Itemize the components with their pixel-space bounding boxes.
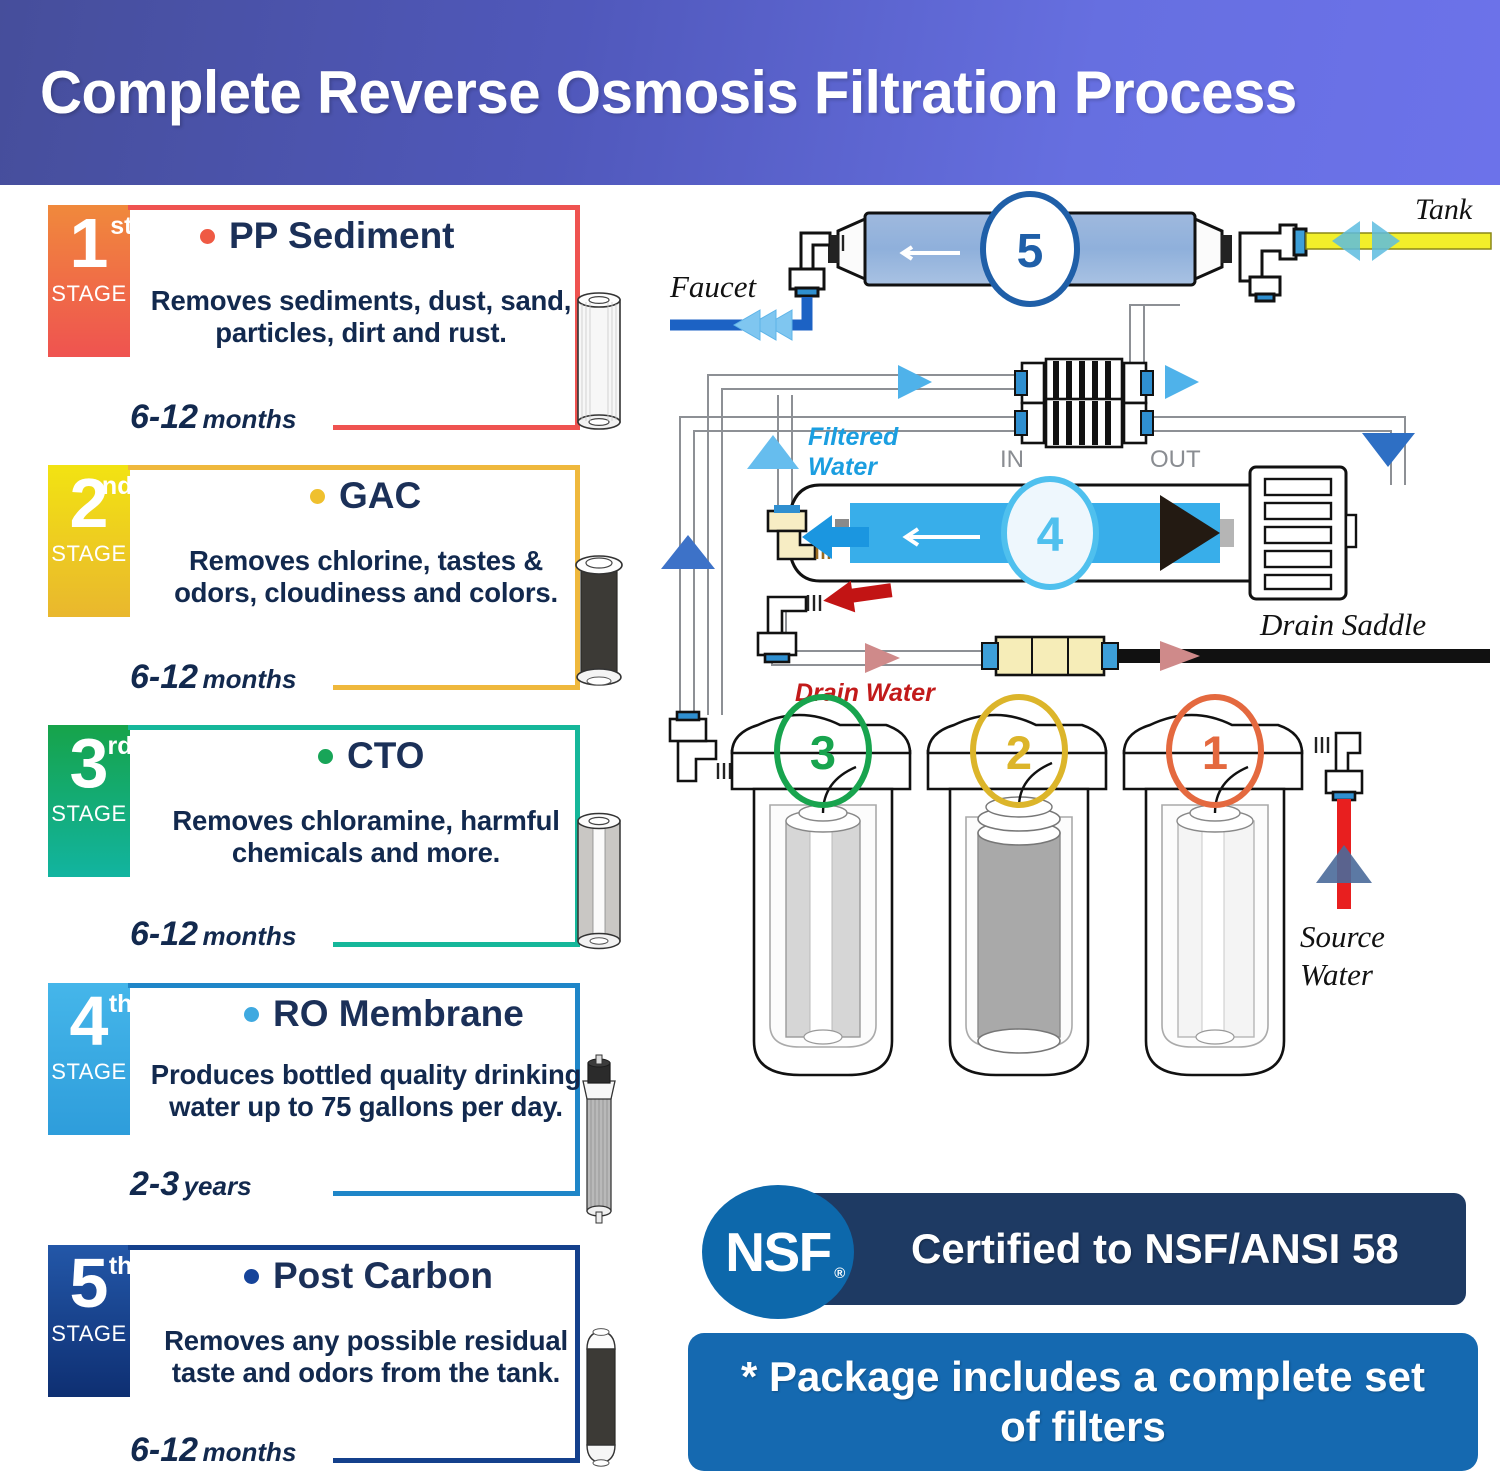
tank-label: Tank <box>1415 193 1473 226</box>
stage-desc-4: Produces bottled quality drinking water … <box>140 1059 592 1124</box>
package-note-text: * Package includes a complete set of fil… <box>728 1352 1438 1453</box>
stage-card-5[interactable]: 5th STAGE Post Carbon Removes any possib… <box>48 1233 648 1473</box>
stage-badge-4: 4th STAGE <box>48 983 130 1135</box>
stage-badge-3: 3rd STAGE <box>48 725 130 877</box>
nsf-logo-text: NSF® <box>725 1220 831 1284</box>
ro-system-schematic: 5 Tank <box>660 185 1500 1085</box>
stage-word-2: STAGE <box>51 541 126 567</box>
stage-title-5: Post Carbon <box>244 1255 493 1297</box>
bracket-bottom-2 <box>333 685 580 690</box>
stage-bullet-4 <box>244 1007 259 1022</box>
drain-water-label: Drain Water <box>795 679 936 707</box>
nsf-certification-text: Certified to NSF/ANSI 58 <box>911 1225 1399 1273</box>
stage-desc-2: Removes chlorine, tastes & odors, cloudi… <box>146 545 586 610</box>
bracket-bottom-3 <box>333 942 580 947</box>
valve-out-label: OUT <box>1150 446 1201 473</box>
stage-desc-1: Removes sediments, dust, sand, particles… <box>146 285 576 350</box>
valve-in-label: IN <box>1000 446 1024 473</box>
stage-bullet-5 <box>244 1269 259 1284</box>
svg-text:Water: Water <box>808 453 878 481</box>
stage-number-3: 3rd <box>70 731 109 795</box>
stage-title-1: PP Sediment <box>200 215 455 257</box>
stage-duration-1: 6-12 months <box>130 398 296 437</box>
bracket-top-2 <box>128 465 580 470</box>
stage-word-4: STAGE <box>51 1059 126 1085</box>
filtered-water-label: Filtered <box>808 423 899 451</box>
svg-text:Water: Water <box>1300 957 1374 992</box>
stage-badge-5: 5th STAGE <box>48 1245 130 1397</box>
stage-card-1[interactable]: 1st STAGE PP Sediment Removes sediments,… <box>48 193 648 453</box>
registered-mark-icon: ® <box>834 1265 844 1282</box>
stage-card-3[interactable]: 3rd STAGE CTO Removes chloramine, harmfu… <box>48 713 648 971</box>
svg-text:2: 2 <box>1006 726 1032 779</box>
stages-column: 1st STAGE PP Sediment Removes sediments,… <box>0 185 660 1471</box>
cartridge-art-4 <box>570 1043 628 1228</box>
svg-text:1: 1 <box>1202 726 1228 779</box>
stage-ordinal-3: rd <box>107 735 132 758</box>
stage-badge-1: 1st STAGE <box>48 205 130 357</box>
bracket-top-1 <box>128 205 580 210</box>
stage-ordinal-2: nd <box>102 475 133 498</box>
nsf-bar: Certified to NSF/ANSI 58 <box>766 1193 1466 1305</box>
stage-duration-5: 6-12 months <box>130 1431 296 1470</box>
stage-number-4: 4th <box>70 989 109 1053</box>
stage-badge-2: 2nd STAGE <box>48 465 130 617</box>
stage-duration-4: 2-3 years <box>130 1165 252 1204</box>
stage-bullet-2 <box>310 489 325 504</box>
nsf-certification-badge: Certified to NSF/ANSI 58 NSF® <box>688 1185 1478 1320</box>
stage-duration-3: 6-12 months <box>130 915 296 954</box>
stage-desc-5: Removes any possible residual taste and … <box>140 1325 592 1390</box>
stage-card-4[interactable]: 4th STAGE RO Membrane Produces bottled q… <box>48 971 648 1233</box>
svg-text:3: 3 <box>810 726 836 779</box>
bracket-bottom-4 <box>333 1191 580 1196</box>
content-area: 1st STAGE PP Sediment Removes sediments,… <box>0 185 1500 1471</box>
diagram-column: 5 Tank <box>660 185 1500 1471</box>
stage-number-2: 2nd <box>70 471 109 535</box>
stage-duration-2: 6-12 months <box>130 658 296 697</box>
stage-word-5: STAGE <box>51 1321 126 1347</box>
stage-ordinal-4: th <box>109 993 133 1016</box>
stage-word-3: STAGE <box>51 801 126 827</box>
stage-bullet-1 <box>200 229 215 244</box>
bracket-bottom-1 <box>333 425 580 430</box>
bracket-top-5 <box>128 1245 580 1250</box>
cartridge-art-2 <box>568 545 630 695</box>
stage-number-5: 5th <box>70 1251 109 1315</box>
valve-lower <box>1015 399 1153 447</box>
drain-saddle-label: Drain Saddle <box>1259 607 1426 642</box>
stage-desc-3: Removes chloramine, harmful chemicals an… <box>146 805 586 870</box>
nsf-logo-icon: NSF® <box>702 1185 854 1319</box>
svg-text:4: 4 <box>1037 509 1064 562</box>
source-water-label: Source <box>1300 919 1385 954</box>
stage-number-1: 1st <box>70 211 109 275</box>
faucet-label: Faucet <box>669 269 757 304</box>
bracket-top-3 <box>128 725 580 730</box>
stage-bullet-3 <box>318 749 333 764</box>
page-header: Complete Reverse Osmosis Filtration Proc… <box>0 0 1500 185</box>
package-note-banner: * Package includes a complete set of fil… <box>688 1333 1478 1471</box>
cartridge-art-3 <box>568 805 630 955</box>
stage-title-4: RO Membrane <box>244 993 524 1035</box>
stage-title-2: GAC <box>310 475 421 517</box>
page-title: Complete Reverse Osmosis Filtration Proc… <box>40 58 1297 127</box>
stage-title-3: CTO <box>318 735 424 777</box>
bracket-bottom-5 <box>333 1458 580 1463</box>
cartridge-art-1 <box>568 288 630 433</box>
bracket-top-4 <box>128 983 580 988</box>
cartridge-art-5 <box>572 1313 630 1473</box>
stage-ordinal-5: th <box>109 1255 133 1278</box>
stage-ordinal-1: st <box>110 215 132 238</box>
svg-text:5: 5 <box>1017 225 1044 278</box>
flow-restrictor <box>982 637 1118 675</box>
stage-word-1: STAGE <box>51 281 126 307</box>
stage-card-2[interactable]: 2nd STAGE GAC Removes chlorine, tastes &… <box>48 453 648 713</box>
